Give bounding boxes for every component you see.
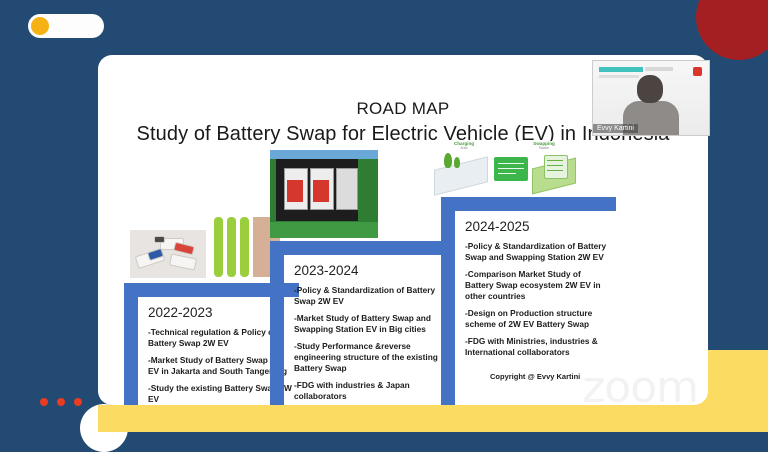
stage-year: 2023-2024 [294, 263, 439, 278]
battery-swap-station-photo [270, 150, 378, 238]
stage-bullet: -Policy & Standardization of Battery Swa… [294, 285, 439, 307]
stage-bullet: -Design on Production structure scheme o… [465, 308, 610, 330]
video-participant-panel[interactable]: Evvy Kartini [592, 60, 710, 136]
charging-swapping-diagram: ChargingArea SwappingStation [428, 141, 578, 199]
stage-bullet-list: -Policy & Standardization of Battery Swa… [294, 285, 439, 402]
shared-slide-text [645, 67, 673, 71]
stage-year: 2024-2025 [465, 219, 610, 234]
zoom-watermark: zoom [582, 362, 698, 405]
stage-bullet: -Comparison Market Study of Battery Swap… [465, 269, 610, 302]
stage-bullet-list: -Policy & Standardization of Battery Swa… [465, 241, 610, 358]
stage-bullet: -FDG with Ministries, industries & Inter… [465, 336, 610, 358]
decor-red-circle [696, 0, 768, 60]
stage-bullet: -Policy & Standardization of Battery Swa… [465, 241, 610, 263]
decor-dots [40, 398, 82, 406]
org-logo-icon [693, 67, 702, 76]
decor-dot [57, 398, 65, 406]
shared-slide-accent [599, 67, 643, 72]
toggle-knob-icon[interactable] [31, 17, 49, 35]
participant-head [637, 75, 663, 103]
decor-dot [74, 398, 82, 406]
decor-dot [40, 398, 48, 406]
stage-content: 2023-2024 -Policy & Standardization of B… [294, 263, 439, 405]
diagram-label-swapping: SwappingStation [520, 141, 568, 150]
stage-bullet: -Study Performance &reverse engineering … [294, 341, 439, 374]
copyright-text: Copyright @ Evvy Kartini [490, 372, 580, 381]
diagram-label-charging: ChargingArea [440, 141, 488, 150]
stage-bullet: -Market Study of Battery Swap and Swappi… [294, 313, 439, 335]
stage-bullet: -FDG with industries & Japan collaborato… [294, 380, 439, 402]
stage-content: 2024-2025 -Policy & Standardization of B… [465, 219, 610, 364]
battery-chargers-photo [130, 230, 206, 278]
roadmap-stage-2: 2023-2024 -Policy & Standardization of B… [270, 241, 445, 405]
decor-yellow-bar [98, 405, 768, 432]
shared-slide-subtext [599, 75, 639, 78]
participant-name-label: Evvy Kartini [593, 124, 638, 133]
